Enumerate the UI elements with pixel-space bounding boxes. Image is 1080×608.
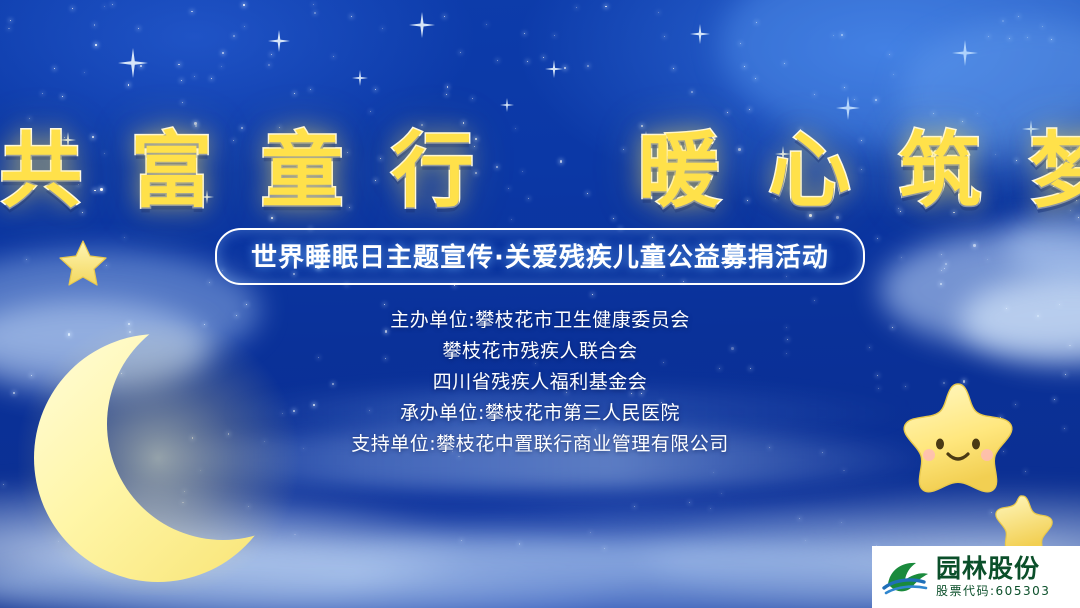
star-dot [72,8,73,9]
star-dot [689,502,690,503]
star-dot [844,87,845,88]
star-dot [799,518,800,519]
star-dot [268,64,270,66]
star-dot [1042,26,1043,27]
star-dot [889,54,890,55]
star-dot [1025,471,1026,472]
star-dot [243,4,245,6]
star-dot [128,84,130,86]
star-glint-icon [545,60,563,78]
star-dot [375,89,376,90]
star-dot [351,16,352,17]
star-dot [1051,39,1052,40]
star-dot [1027,37,1028,38]
star-dot [843,470,844,471]
star-dot [755,78,756,79]
sponsor-logo: 园林股份 股票代码:605303 [872,546,1080,608]
star-dot [310,89,311,90]
star-dot [454,285,455,286]
star-dot [191,11,193,13]
star-dot [444,16,445,17]
star-dot [314,12,316,14]
poster-canvas: 共 富 童 行 暖 心 筑 梦 世界睡眠日主题宣传·关爱残疾儿童公益募捐活动 主… [0,0,1080,608]
star-dot [3,484,4,485]
main-title: 共 富 童 行 暖 心 筑 梦 [0,104,1080,223]
star-dot [991,512,992,513]
star-dot [446,94,447,95]
star-dot [854,99,855,100]
subtitle-container: 世界睡眠日主题宣传·关爱残疾儿童公益募捐活动 [0,228,1080,285]
star-dot [84,72,85,73]
star-dot [140,65,142,67]
organizer-line: 四川省残疾人福利基金会 [0,367,1080,398]
star-dot [1002,20,1004,22]
logo-name: 园林股份 [936,555,1050,583]
main-title-container: 共 富 童 行 暖 心 筑 梦 [0,104,1080,223]
star-dot [447,86,449,88]
star-dot [221,66,222,67]
subtitle-pill: 世界睡眠日主题宣传·关爱残疾儿童公益募捐活动 [215,228,865,285]
star-glint-icon [409,12,435,38]
organizer-line: 支持单位:攀枝花中置联行商业管理有限公司 [0,429,1080,460]
star-dot [58,541,59,542]
star-dot [833,35,834,36]
star-dot [564,67,566,69]
star-dot [604,548,605,549]
star-dot [713,472,714,473]
logo-text-block: 园林股份 股票代码:605303 [936,555,1050,599]
star-dot [592,294,593,295]
star-dot [497,60,498,61]
star-dot [294,93,295,94]
star-glint-icon [268,30,290,52]
star-glint-icon [690,24,710,44]
star-dot [271,54,272,55]
star-dot [744,66,745,67]
star-dot [244,26,245,27]
star-dot [211,78,212,79]
star-dot [710,508,711,509]
star-dot [163,543,164,544]
star-glint-icon [352,70,368,86]
star-dot [460,52,461,53]
star-dot [95,44,97,46]
star-dot [248,506,249,507]
star-dot [756,22,757,23]
star-dot [664,36,665,37]
star-dot [605,6,607,8]
star-dot [740,43,741,44]
star-dot [658,12,659,13]
star-dot [554,35,555,36]
star-dot [200,470,201,471]
star-dot [178,64,180,66]
star-dot [486,24,487,25]
organizer-line: 承办单位:攀枝花市第三人民医院 [0,398,1080,429]
star-dot [543,57,544,58]
star-dot [294,534,295,535]
star-dot [333,56,334,57]
star-dot [182,502,183,503]
star-dot [587,65,589,67]
star-dot [814,94,815,95]
star-dot [590,532,591,533]
star-dot [194,76,195,77]
star-dot [988,36,989,37]
star-dot [721,493,722,494]
star-dot [222,52,224,54]
star-dot [814,300,815,301]
star-dot [461,540,462,541]
star-dot [382,28,383,29]
star-dot [138,28,140,30]
star-dot [841,522,842,523]
star-dot [184,491,185,492]
star-dot [524,33,525,34]
star-dot [805,540,806,541]
star-dot [784,63,785,64]
star-dot [893,74,894,75]
organizer-line: 主办单位:攀枝花市卫生健康委员会 [0,305,1080,336]
organizer-list: 主办单位:攀枝花市卫生健康委员会 攀枝花市残疾人联合会 四川省残疾人福利基金会 … [0,305,1080,460]
star-glint-icon [952,40,978,66]
star-dot [527,61,528,62]
star-dot [10,20,11,21]
star-dot [576,7,577,8]
star-dot [54,68,55,69]
star-dot [875,99,877,101]
star-dot [691,91,693,93]
star-dot [123,508,124,509]
starfield [0,0,1080,608]
star-dot [8,28,10,30]
garden-leaf-icon [880,554,932,600]
star-dot [673,68,674,69]
star-dot [519,543,520,544]
star-glint-icon [118,48,148,78]
star-dot [1009,38,1010,39]
star-dot [104,6,105,7]
star-dot [181,80,182,81]
logo-stock-code: 股票代码:605303 [936,583,1050,599]
star-dot [472,98,473,99]
star-dot [62,96,63,97]
star-dot [42,93,43,94]
star-dot [94,24,96,26]
organizer-line: 攀枝花市残疾人联合会 [0,336,1080,367]
star-dot [1018,16,1019,17]
star-dot [841,34,843,36]
star-dot [112,4,113,5]
star-dot [313,4,314,5]
star-dot [233,35,235,37]
star-dot [634,506,635,507]
